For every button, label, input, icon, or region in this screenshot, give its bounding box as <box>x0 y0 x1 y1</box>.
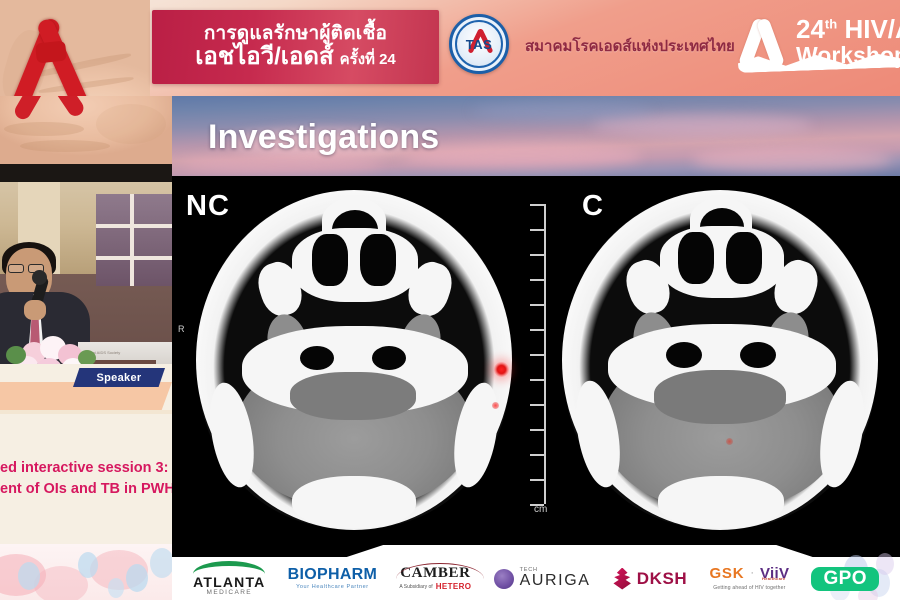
presentation-slide[interactable]: Investigations NC R <box>172 96 900 545</box>
gsk-separator: · <box>750 568 754 579</box>
session-title-line1: ed interactive session 3: <box>0 458 172 479</box>
ct-scale-ruler: cm <box>526 204 570 520</box>
thai-event-title-banner: การดูแลรักษาผู้ติดเชื้อ เอชไอวี/เอดส์ คร… <box>152 10 439 84</box>
red-aids-ribbon-icon <box>6 12 98 96</box>
session-title-line2: ent of OIs and TB in PWH <box>0 479 172 500</box>
gsk-viiv-row: GSK · ViiVHealthcare <box>709 566 789 581</box>
ct-scan-contrast[interactable]: C L R <box>550 176 900 545</box>
ruler-axis <box>544 204 546 504</box>
sponsor-logo-row: ATLANTA MEDICARE BIOPHARM Your Healthcar… <box>172 557 900 600</box>
ct-scan-non-contrast[interactable]: NC R <box>172 176 522 545</box>
video-window <box>96 194 172 286</box>
footer-notch-decoration <box>172 545 900 557</box>
speaker-badge-label: Speaker <box>97 372 142 384</box>
atlanta-name: ATLANTA <box>193 575 265 589</box>
gsk-tagline: Getting ahead of HIV together <box>713 586 785 591</box>
gsk-name: GSK <box>709 566 744 581</box>
blood-cell-decoration <box>0 544 172 600</box>
workshop-title-line2: Workshop 202 <box>796 44 900 67</box>
left-sidebar: Thai AIDS Society Speaker ed interactive… <box>0 96 172 600</box>
sponsor-logo-camber[interactable]: CAMBER A Subsidiary of HETERO <box>399 566 471 591</box>
auriga-mark-icon <box>494 569 514 589</box>
viiv-name: ViiVHealthcare <box>760 566 789 581</box>
workshop-topic: HIV/AIDS <box>844 14 900 44</box>
workshop-edition-number: 24 <box>796 14 825 44</box>
atlanta-arc-icon <box>193 561 265 574</box>
laser-pointer-dot <box>494 362 509 377</box>
camber-partner-row: A Subsidiary of HETERO <box>399 583 471 591</box>
camber-subtitle: A Subsidiary of <box>399 585 432 590</box>
society-name-thai: สมาคมโรคเอดส์แห่งประเทศไทย <box>525 34 735 58</box>
speaker-hand <box>24 300 46 320</box>
sponsor-logo-gsk-viiv[interactable]: GSK · ViiVHealthcare Getting ahead of HI… <box>709 566 789 591</box>
thai-title-main: เอชไอวี/เอดส์ <box>195 44 333 70</box>
sidebar-hand-photo <box>0 96 172 164</box>
auriga-text-block: TECH AURIGA <box>520 568 591 590</box>
ct-right-label: C <box>582 190 604 223</box>
camber-partner-name: HETERO <box>436 583 472 591</box>
ct-right-annotation-mark <box>726 438 733 445</box>
biopharm-subtitle: Your Healthcare Partner <box>296 585 369 591</box>
biopharm-name: BIOPHARM <box>288 567 378 583</box>
speaker-label-strip: Speaker <box>0 364 172 410</box>
sponsor-logo-dksh[interactable]: DKSH <box>613 568 688 590</box>
workshop-title-line1: 24th HIV/AIDS <box>796 16 900 42</box>
sponsor-logo-biopharm[interactable]: BIOPHARM Your Healthcare Partner <box>288 567 378 591</box>
ruler-unit-label: cm <box>534 504 547 515</box>
event-header-banner: การดูแลรักษาผู้ติดเชื้อ เอชไอวี/เอดส์ คร… <box>0 0 900 96</box>
sponsor-logo-gpo[interactable]: GPO <box>811 567 878 591</box>
viiv-subtitle: Healthcare <box>762 577 785 581</box>
speaker-badge: Speaker <box>73 368 165 387</box>
hand-ribbon-photo <box>0 0 150 96</box>
thai-title-line1: การดูแลรักษาผู้ติดเชื้อ <box>204 24 387 44</box>
workshop-edition-suffix: th <box>825 16 837 31</box>
workshop-logo-lockup: 24th HIV/AIDS Workshop 202 <box>736 10 900 82</box>
webinar-viewer: การดูแลรักษาผู้ติดเชื้อ เอชไอวี/เอดส์ คร… <box>0 0 900 600</box>
slide-title: Investigations <box>208 118 439 157</box>
dksh-flame-icon <box>613 568 632 590</box>
gpo-name: GPO <box>823 569 866 588</box>
sponsor-logo-atlanta[interactable]: ATLANTA MEDICARE <box>193 561 265 597</box>
microphone-head <box>32 270 47 285</box>
thai-title-edition: ครั้งที่ 24 <box>340 52 396 69</box>
tas-logo-inner: TAS <box>455 20 503 68</box>
atlanta-subtitle: MEDICARE <box>207 590 253 597</box>
session-title-block: ed interactive session 3: ent of OIs and… <box>0 414 172 544</box>
thai-aids-society-logo: TAS <box>449 14 509 74</box>
laser-pointer-trace <box>492 402 499 409</box>
dksh-name: DKSH <box>637 570 688 587</box>
sponsor-footer: ATLANTA MEDICARE BIOPHARM Your Healthcar… <box>172 545 900 600</box>
speaker-video-feed[interactable]: Thai AIDS Society <box>0 164 172 364</box>
ct-left-label: NC <box>186 190 230 223</box>
sponsor-logo-auriga[interactable]: TECH AURIGA <box>494 568 591 590</box>
gpo-pill-background: GPO <box>811 567 878 591</box>
tas-logo-text: TAS <box>466 37 493 52</box>
thai-title-line2: เอชไอวี/เอดส์ ครั้งที่ 24 <box>195 44 396 70</box>
ct-scan-area: NC R <box>172 176 900 545</box>
flower-arrangement <box>12 336 104 364</box>
auriga-name: AURIGA <box>520 573 591 589</box>
ct-left-marker-r: R <box>178 324 185 334</box>
video-top-letterbox <box>0 164 172 182</box>
